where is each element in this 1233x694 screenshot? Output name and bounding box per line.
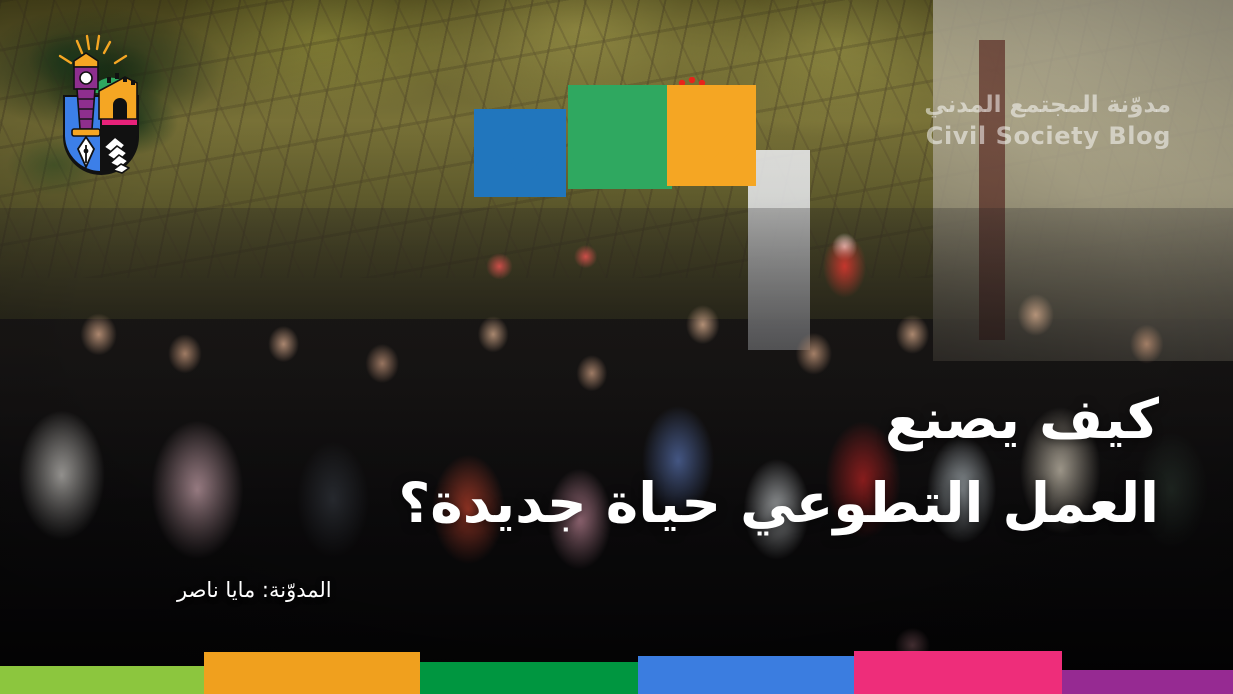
byline-author: المدوّنة: مايا ناصر xyxy=(177,578,332,602)
letter-block-green[interactable] xyxy=(568,85,672,189)
headline-line-1: كيف يصنع xyxy=(109,378,1159,462)
bar-segment-green xyxy=(420,662,638,694)
letter-block-logo-group[interactable] xyxy=(474,85,784,205)
watermark-english: Civil Society Blog xyxy=(924,122,1171,150)
bar-segment-purple xyxy=(1062,670,1233,694)
bar-segment-lime xyxy=(0,666,204,694)
arabic-letter-cutout-blue-icon xyxy=(474,109,566,197)
page-title: كيف يصنع العمل التطوعي حياة جديدة؟ xyxy=(109,378,1159,545)
crest-icon xyxy=(55,33,147,185)
brand-color-bar xyxy=(0,640,1233,694)
letter-block-orange[interactable] xyxy=(667,85,756,186)
bar-segment-blue xyxy=(638,656,854,694)
bar-segment-orange xyxy=(204,652,420,694)
headline-line-2: العمل التطوعي حياة جديدة؟ xyxy=(109,462,1159,546)
arabic-letter-cutout-orange-icon xyxy=(667,85,756,186)
letter-block-blue[interactable] xyxy=(474,109,566,197)
bar-segment-pink xyxy=(854,651,1062,694)
watermark: مدوّنة المجتمع المدني Civil Society Blog xyxy=(924,92,1171,150)
brand-crest-logo[interactable] xyxy=(55,33,147,185)
blog-cover-poster: مدوّنة المجتمع المدني Civil Society Blog… xyxy=(0,0,1233,694)
arabic-letter-cutout-green-icon xyxy=(568,85,672,189)
watermark-arabic: مدوّنة المجتمع المدني xyxy=(924,92,1171,119)
